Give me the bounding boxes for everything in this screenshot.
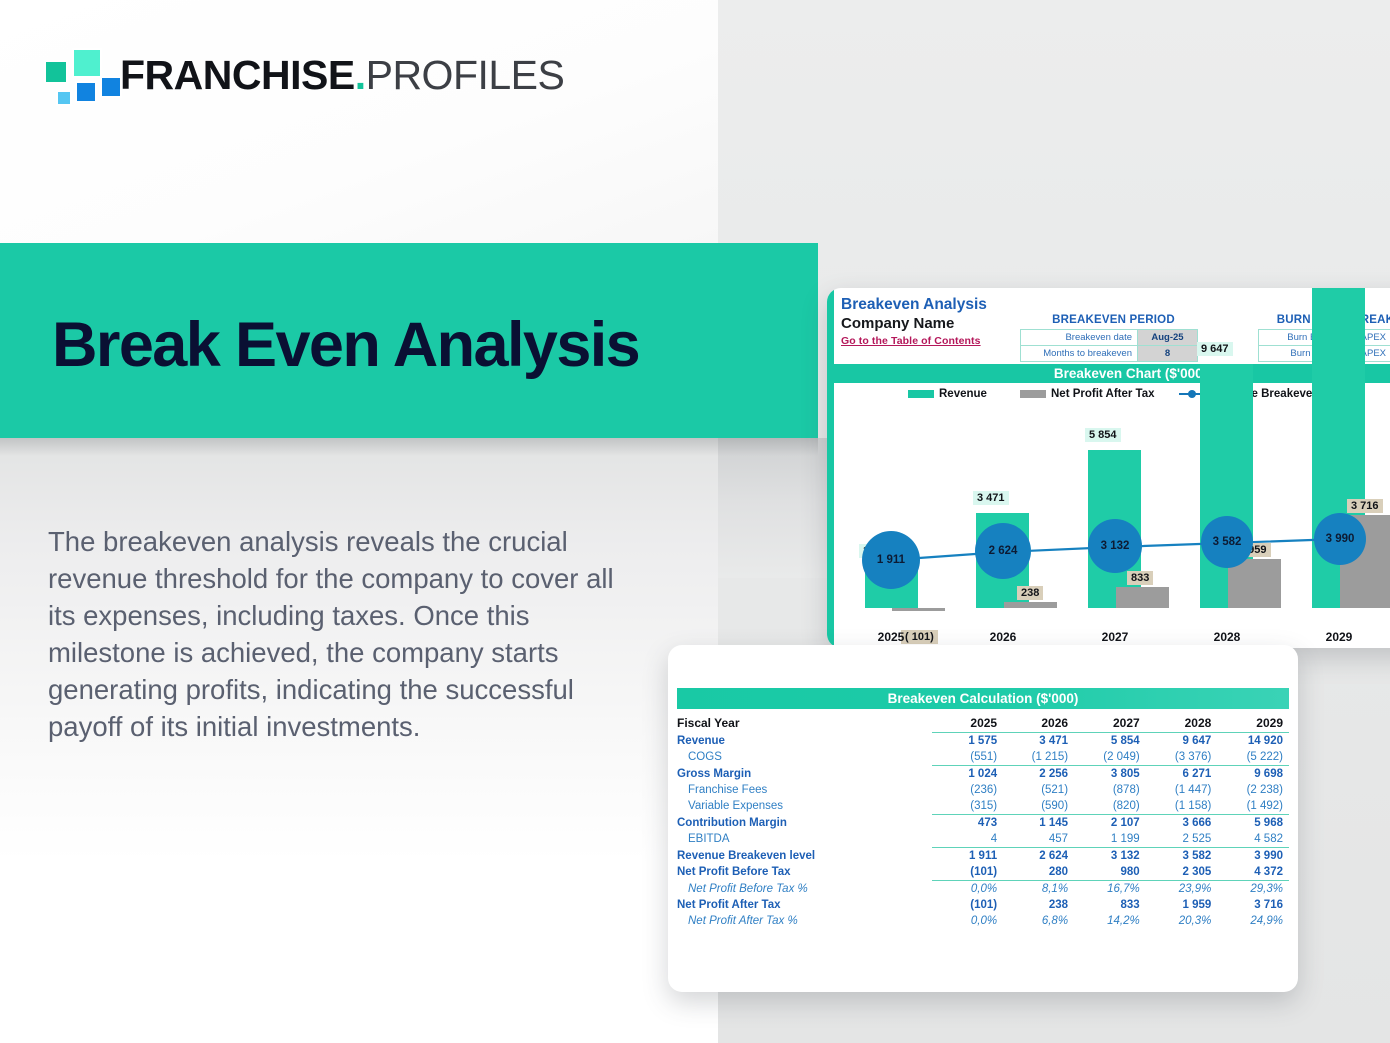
logo-word-dot: . [355, 52, 366, 98]
cell-value: 23,9% [1146, 881, 1218, 898]
cell-value: 1 024 [932, 766, 1003, 783]
row-label: EBITDA [677, 831, 932, 848]
table-row: EBITDA 4 457 1 199 2 525 4 582 [677, 831, 1289, 848]
breakeven-period-table: Breakeven date Aug-25 Months to breakeve… [1020, 329, 1198, 362]
label-revenue-2026: 3 471 [973, 491, 1009, 505]
legend-item-revenue[interactable]: Revenue [908, 386, 987, 402]
row-label: COGS [677, 749, 932, 766]
chart-card-inner: Breakeven Analysis Company Name Go to th… [834, 288, 1390, 648]
logo-square-lightblue [56, 90, 72, 106]
cell-value: 3 990 [1217, 848, 1289, 865]
slide-canvas: FRANCHISE.PROFILES Break Even Analysis T… [0, 0, 1390, 1043]
cell-value: (2 049) [1074, 749, 1146, 766]
cell-value: 14,2% [1074, 913, 1146, 929]
logo-mark-icon [44, 48, 108, 100]
cell-value: 3 132 [1074, 848, 1146, 865]
brand-logo[interactable]: FRANCHISE.PROFILES [44, 44, 544, 106]
dot-label-2027: 3 132 [1088, 519, 1142, 573]
cell-value: 280 [1003, 864, 1074, 881]
hero-band-shadow [0, 438, 818, 456]
row-label: Franchise Fees [677, 782, 932, 798]
table-row: Revenue Breakeven level 1 911 2 624 3 13… [677, 848, 1289, 865]
dot-breakeven-2029[interactable]: 3 990 [1314, 513, 1366, 565]
cell-value: (315) [932, 798, 1003, 815]
table-row: Net Profit After Tax % 0,0% 6,8% 14,2% 2… [677, 913, 1289, 929]
table-row: Breakeven date Aug-25 [1021, 330, 1198, 346]
card-accent-edge [827, 288, 834, 648]
row-label: Gross Margin [677, 766, 932, 783]
legend-label-npat: Net Profit After Tax [1051, 388, 1155, 400]
logo-wordmark: FRANCHISE.PROFILES [120, 44, 564, 106]
cell-value: 1 959 [1146, 897, 1218, 913]
axis-label-2025: 2025 [856, 630, 926, 644]
cell-value: 9 698 [1217, 766, 1289, 783]
chart-banner-title: Breakeven Chart ($'000) [834, 364, 1390, 383]
legend-label-revenue: Revenue [939, 388, 987, 400]
cell-value: 0,0% [932, 881, 1003, 898]
column-header-2027: 2027 [1074, 713, 1146, 733]
chart-plot-area: 1 575 3 471 5 854 9 647 14 920 ( 101) 23… [834, 408, 1390, 648]
table-row: COGS (551) (1 215) (2 049) (3 376) (5 22… [677, 749, 1289, 766]
cell-value: (1 447) [1146, 782, 1218, 798]
table-row: Contribution Margin 473 1 145 2 107 3 66… [677, 815, 1289, 832]
cell-value: (1 215) [1003, 749, 1074, 766]
cell-value: (521) [1003, 782, 1074, 798]
axis-label-2027: 2027 [1080, 630, 1150, 644]
logo-square-blue-large [100, 76, 122, 98]
cell-value: 2 624 [1003, 848, 1074, 865]
label-npat-2029: 3 716 [1347, 499, 1383, 513]
cell-value: (236) [932, 782, 1003, 798]
dot-label-2028: 3 582 [1201, 516, 1253, 568]
cell-value: 3 582 [1146, 848, 1218, 865]
cell-value: 16,7% [1074, 881, 1146, 898]
logo-word-profiles: PROFILES [366, 52, 565, 98]
chart-card-company: Company Name [841, 315, 954, 332]
cell-value: 2 107 [1074, 815, 1146, 832]
breakeven-calculation-table: Fiscal Year 2025 2026 2027 2028 2029 Rev… [677, 713, 1289, 929]
cell-value: 20,3% [1146, 913, 1218, 929]
dot-label-2029: 3 990 [1314, 513, 1366, 565]
table-row: Net Profit After Tax (101) 238 833 1 959… [677, 897, 1289, 913]
dot-breakeven-2026[interactable]: 2 624 [975, 523, 1031, 579]
cell-value: (3 376) [1146, 749, 1218, 766]
row-label: Contribution Margin [677, 815, 932, 832]
cell-value: 3 805 [1074, 766, 1146, 783]
table-row: Months to breakeven 8 [1021, 346, 1198, 362]
label-revenue-2027: 5 854 [1085, 428, 1121, 442]
cell-value: 3 716 [1217, 897, 1289, 913]
cell-value: 8,1% [1003, 881, 1074, 898]
cell-value: 238 [1003, 897, 1074, 913]
chart-legend: Revenue Net Profit After Tax Revenue Bre… [834, 386, 1390, 404]
dot-breakeven-2025[interactable]: 1 911 [862, 531, 920, 589]
logo-square-blue-small [75, 81, 97, 103]
cell-value: (5 222) [1217, 749, 1289, 766]
cell-value: 1 145 [1003, 815, 1074, 832]
cell-value: (820) [1074, 798, 1146, 815]
calculation-banner-title: Breakeven Calculation ($'000) [677, 688, 1289, 709]
cell-value: 6,8% [1003, 913, 1074, 929]
column-header-2029: 2029 [1217, 713, 1289, 733]
dot-breakeven-2028[interactable]: 3 582 [1201, 516, 1253, 568]
cell-value: (101) [932, 864, 1003, 881]
row-label: Net Profit After Tax % [677, 913, 932, 929]
table-row: Net Profit Before Tax (101) 280 980 2 30… [677, 864, 1289, 881]
cell-value: 4 [932, 831, 1003, 848]
label-revenue-2028: 9 647 [1197, 342, 1233, 356]
logo-word-franchise: FRANCHISE [120, 52, 355, 98]
logo-square-mint [72, 48, 102, 78]
column-header-fiscal-year: Fiscal Year [677, 713, 932, 733]
row-label: Net Profit Before Tax % [677, 881, 932, 898]
breakeven-period-heading: BREAKEVEN PERIOD [996, 314, 1231, 326]
cell-value: (590) [1003, 798, 1074, 815]
cell-value: 4 582 [1217, 831, 1289, 848]
table-of-contents-link[interactable]: Go to the Table of Contents [841, 335, 981, 347]
cell-value: 14 920 [1217, 733, 1289, 750]
cell-value: 9 647 [1146, 733, 1218, 750]
cell-value: 1 911 [932, 848, 1003, 865]
cell-value: 24,9% [1217, 913, 1289, 929]
legend-swatch-revenue-icon [908, 390, 934, 398]
label-npat-2027: 833 [1127, 571, 1153, 585]
cell-value: 2 256 [1003, 766, 1074, 783]
cell-value: 2 305 [1146, 864, 1218, 881]
months-to-breakeven-value[interactable]: 8 [1138, 346, 1198, 362]
breakeven-date-label: Breakeven date [1021, 330, 1138, 346]
row-label: Net Profit After Tax [677, 897, 932, 913]
table-header-row: Fiscal Year 2025 2026 2027 2028 2029 [677, 713, 1289, 733]
cell-value: 3 666 [1146, 815, 1218, 832]
row-label: Variable Expenses [677, 798, 932, 815]
breakeven-date-value[interactable]: Aug-25 [1138, 330, 1198, 346]
cell-value: 4 372 [1217, 864, 1289, 881]
cell-value: (878) [1074, 782, 1146, 798]
axis-label-2028: 2028 [1192, 630, 1262, 644]
legend-item-net-profit-after-tax[interactable]: Net Profit After Tax [1020, 386, 1155, 402]
cell-value: 2 525 [1146, 831, 1218, 848]
cell-value: 980 [1074, 864, 1146, 881]
cell-value: 1 199 [1074, 831, 1146, 848]
dot-label-2026: 2 624 [975, 523, 1031, 579]
dot-label-2025: 1 911 [862, 531, 920, 589]
cell-value: 6 271 [1146, 766, 1218, 783]
label-npat-2026: 238 [1017, 586, 1043, 600]
cell-value: (101) [932, 897, 1003, 913]
table-row: Franchise Fees (236) (521) (878) (1 447)… [677, 782, 1289, 798]
cell-value: 5 968 [1217, 815, 1289, 832]
table-row: Net Profit Before Tax % 0,0% 8,1% 16,7% … [677, 881, 1289, 898]
axis-label-2029: 2029 [1304, 630, 1374, 644]
breakeven-calculation-card: Breakeven Calculation ($'000) Fiscal Yea… [668, 645, 1298, 992]
dot-breakeven-2027[interactable]: 3 132 [1088, 519, 1142, 573]
column-header-2026: 2026 [1003, 713, 1074, 733]
cell-value: (551) [932, 749, 1003, 766]
axis-label-2026: 2026 [968, 630, 1038, 644]
cell-value: (1 492) [1217, 798, 1289, 815]
table-row: Variable Expenses (315) (590) (820) (1 1… [677, 798, 1289, 815]
cell-value: 5 854 [1074, 733, 1146, 750]
body-paragraph: The breakeven analysis reveals the cruci… [48, 523, 628, 745]
cell-value: 3 471 [1003, 733, 1074, 750]
table-row: Revenue 1 575 3 471 5 854 9 647 14 920 [677, 733, 1289, 750]
cell-value: (2 238) [1217, 782, 1289, 798]
legend-swatch-npat-icon [1020, 390, 1046, 398]
months-to-breakeven-label: Months to breakeven [1021, 346, 1138, 362]
background-top-left [0, 0, 718, 243]
breakeven-chart-card: Breakeven Analysis Company Name Go to th… [827, 288, 1390, 648]
column-header-2025: 2025 [932, 713, 1003, 733]
page-title: Break Even Analysis [52, 306, 639, 384]
cell-value: 1 575 [932, 733, 1003, 750]
cell-value: 0,0% [932, 913, 1003, 929]
chart-card-title: Breakeven Analysis [841, 296, 987, 314]
row-label: Revenue [677, 733, 932, 750]
cell-value: 29,3% [1217, 881, 1289, 898]
cell-value: 833 [1074, 897, 1146, 913]
cell-value: 457 [1003, 831, 1074, 848]
table-row: Gross Margin 1 024 2 256 3 805 6 271 9 6… [677, 766, 1289, 783]
cell-value: (1 158) [1146, 798, 1218, 815]
row-label: Net Profit Before Tax [677, 864, 932, 881]
row-label: Revenue Breakeven level [677, 848, 932, 865]
logo-square-teal [44, 60, 68, 84]
cell-value: 473 [932, 815, 1003, 832]
column-header-2028: 2028 [1146, 713, 1218, 733]
